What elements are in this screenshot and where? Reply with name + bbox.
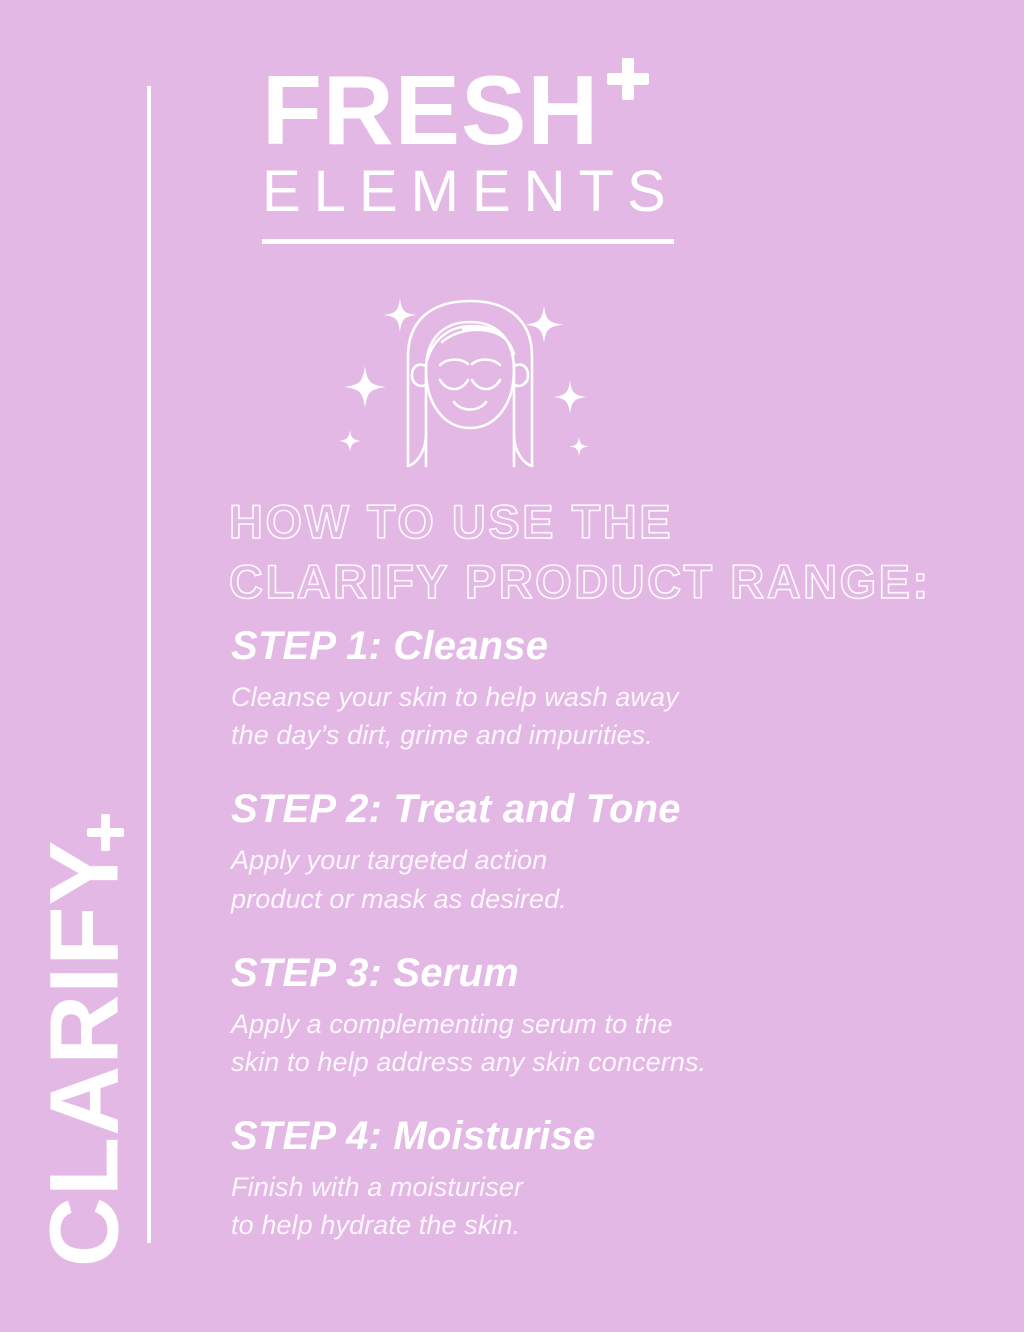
brand-name-primary: FRESH xyxy=(262,62,674,158)
step-body-line: the day’s dirt, grime and impurities. xyxy=(231,716,971,754)
step-body: Apply your targeted action product or ma… xyxy=(231,841,971,918)
section-heading: HOW TO USE THE CLARIFY PRODUCT RANGE: xyxy=(229,492,949,612)
step-body-line: Finish with a moisturiser xyxy=(231,1168,971,1206)
step-title: STEP 2: Treat and Tone xyxy=(231,787,971,832)
step-title: STEP 3: Serum xyxy=(231,951,971,996)
brand-plus-icon xyxy=(607,58,649,100)
step-body-line: product or mask as desired. xyxy=(231,880,971,918)
step-body-line: skin to help address any skin concerns. xyxy=(231,1043,971,1081)
section-heading-line-1: HOW TO USE THE xyxy=(229,492,949,552)
step-item: STEP 3: Serum Apply a complementing seru… xyxy=(231,951,971,1081)
step-body: Cleanse your skin to help wash away the … xyxy=(231,678,971,755)
brand-logo: FRESH ELEMENTS xyxy=(262,62,674,244)
vertical-divider-line xyxy=(147,86,151,1243)
step-title: STEP 4: Moisturise xyxy=(231,1114,971,1159)
brand-name-secondary: ELEMENTS xyxy=(262,162,674,221)
step-item: STEP 2: Treat and Tone Apply your target… xyxy=(231,787,971,917)
brand-name-primary-text: FRESH xyxy=(262,55,599,165)
step-body-line: to help hydrate the skin. xyxy=(231,1206,971,1244)
step-body-line: Apply your targeted action xyxy=(231,841,971,879)
poster-canvas: CLARIFY FRESH ELEMENTS xyxy=(0,0,1024,1332)
brand-underline-rule xyxy=(262,239,674,244)
step-item: STEP 4: Moisturise Finish with a moistur… xyxy=(231,1114,971,1244)
face-with-sparkles-icon xyxy=(330,282,610,480)
step-body-line: Apply a complementing serum to the xyxy=(231,1005,971,1043)
step-item: STEP 1: Cleanse Cleanse your skin to hel… xyxy=(231,624,971,754)
steps-list: STEP 1: Cleanse Cleanse your skin to hel… xyxy=(231,624,971,1245)
section-heading-line-2: CLARIFY PRODUCT RANGE: xyxy=(229,552,949,612)
step-body: Finish with a moisturiser to help hydrat… xyxy=(231,1168,971,1245)
step-title: STEP 1: Cleanse xyxy=(231,624,971,669)
clarify-vertical-label: CLARIFY xyxy=(36,824,133,1284)
step-body-line: Cleanse your skin to help wash away xyxy=(231,678,971,716)
step-body: Apply a complementing serum to the skin … xyxy=(231,1005,971,1082)
